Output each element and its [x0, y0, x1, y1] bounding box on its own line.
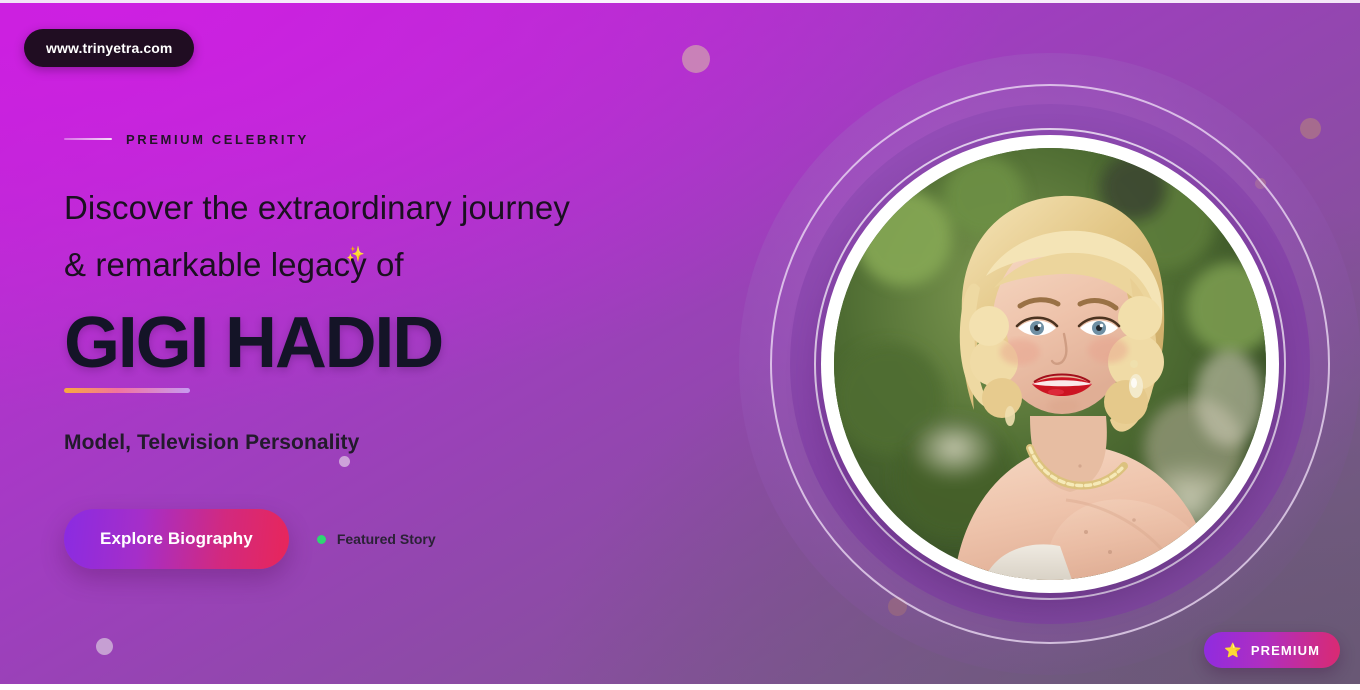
- dot-top-center: [682, 45, 710, 73]
- hero-banner: www.trinyetra.com PREMIUM CELEBRITY ✨ Di…: [0, 0, 1360, 684]
- hero-text-column: PREMIUM CELEBRITY ✨ Discover the extraor…: [64, 128, 744, 569]
- premium-badge[interactable]: ⭐ PREMIUM: [1204, 632, 1340, 668]
- featured-story-indicator[interactable]: Featured Story: [317, 531, 436, 547]
- hero-lede-line-1: Discover the extraordinary journey: [64, 180, 744, 237]
- celebrity-name: GIGI HADID: [64, 308, 744, 379]
- portrait-medallion: [739, 53, 1360, 675]
- cta-row: Explore Biography Featured Story: [64, 509, 744, 569]
- sparkle-icon: ✨: [346, 247, 758, 262]
- top-hairline: [0, 0, 1360, 3]
- premium-label: PREMIUM: [1251, 643, 1320, 658]
- site-url-badge[interactable]: www.trinyetra.com: [24, 29, 194, 67]
- hero-lede: Discover the extraordinary journey & rem…: [64, 180, 744, 294]
- celebrity-role: Model, Television Personality: [64, 431, 744, 455]
- celebrity-portrait-photo: [834, 148, 1266, 580]
- eyebrow: PREMIUM CELEBRITY ✨: [64, 128, 744, 150]
- status-dot-icon: [317, 535, 326, 544]
- hero-lede-line-2: & remarkable legacy of: [64, 237, 744, 294]
- eyebrow-label: PREMIUM CELEBRITY: [126, 132, 309, 147]
- explore-biography-button[interactable]: Explore Biography: [64, 509, 289, 569]
- eyebrow-rule: [64, 138, 112, 140]
- featured-story-label: Featured Story: [337, 531, 436, 547]
- site-url-text: www.trinyetra.com: [46, 40, 172, 56]
- name-underline-accent: [64, 388, 190, 393]
- star-icon: ⭐: [1224, 643, 1243, 657]
- dot-bottom-left: [96, 638, 113, 655]
